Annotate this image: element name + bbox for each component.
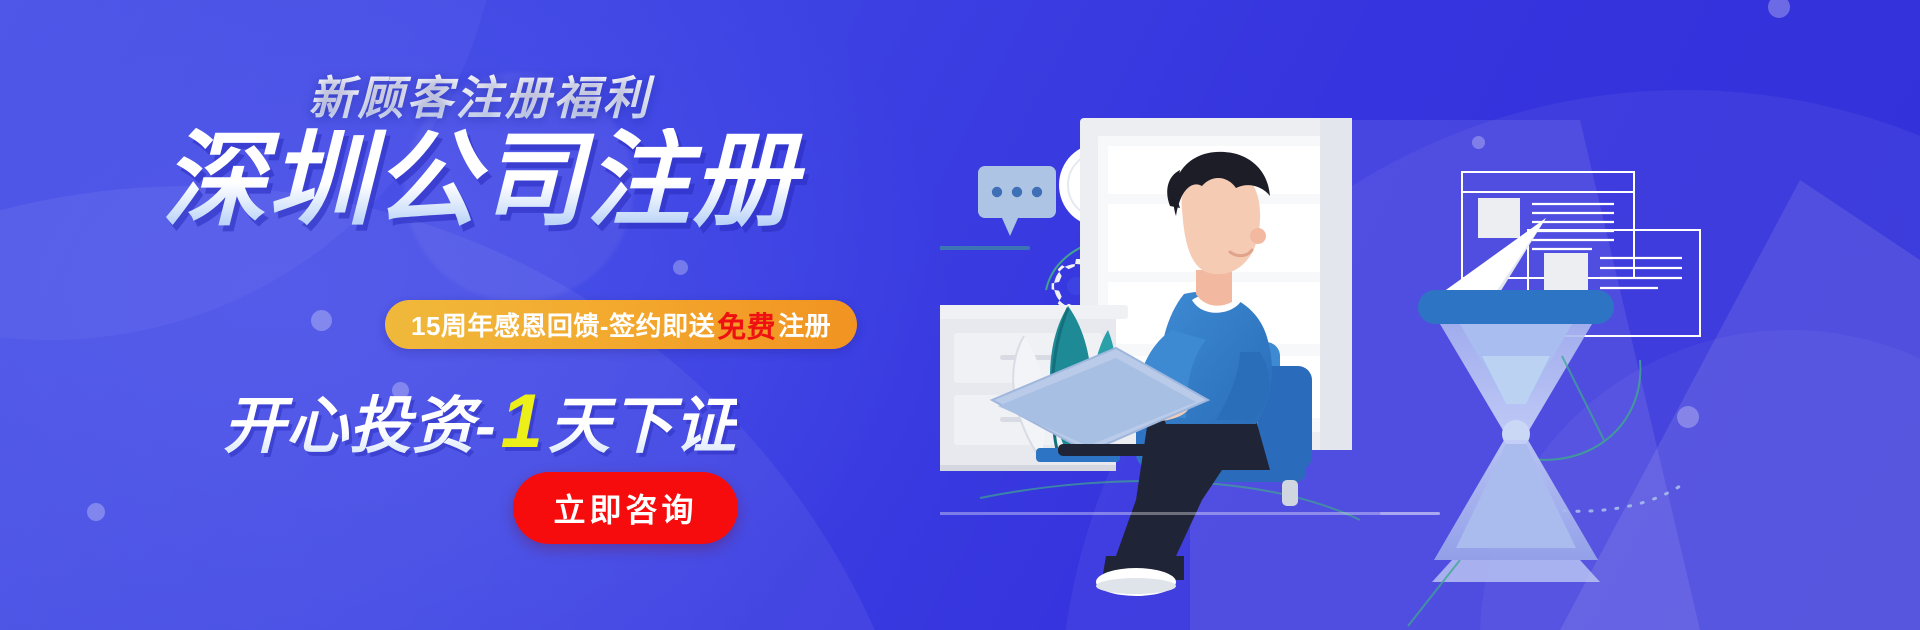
wall-accent-line [940,246,1030,250]
window-curtain [1320,118,1352,450]
floor-line [940,512,1440,515]
badge-lead-text: 15周年感恩回馈-签约即送 [411,306,715,343]
tagline-number: 1 [497,379,548,464]
cta-label: 立即咨询 [553,485,697,531]
hero-illustration [940,0,1920,630]
eyebrow-text: 新顾客注册福利 [0,62,960,128]
copy-block: 新顾客注册福利 深圳公司注册 15周年感恩回馈-签约即送免费注册 开心投资-1天… [0,0,1000,630]
tagline: 开心投资-1天下证 [0,375,960,465]
consult-now-button[interactable]: 立即咨询 [513,472,738,544]
tagline-suffix: 天下证 [548,392,737,461]
chat-bubble-icon [978,166,1056,236]
page-title: 深圳公司注册 [0,128,960,234]
badge-trail-text: 注册 [778,306,831,343]
badge-free-text: 免费 [715,304,778,346]
promo-banner: 新顾客注册福利 深圳公司注册 15周年感恩回馈-签约即送免费注册 开心投资-1天… [0,0,1920,630]
tagline-prefix: 开心投资- [223,392,497,461]
anniversary-badge: 15周年感恩回馈-签约即送免费注册 [385,300,857,349]
